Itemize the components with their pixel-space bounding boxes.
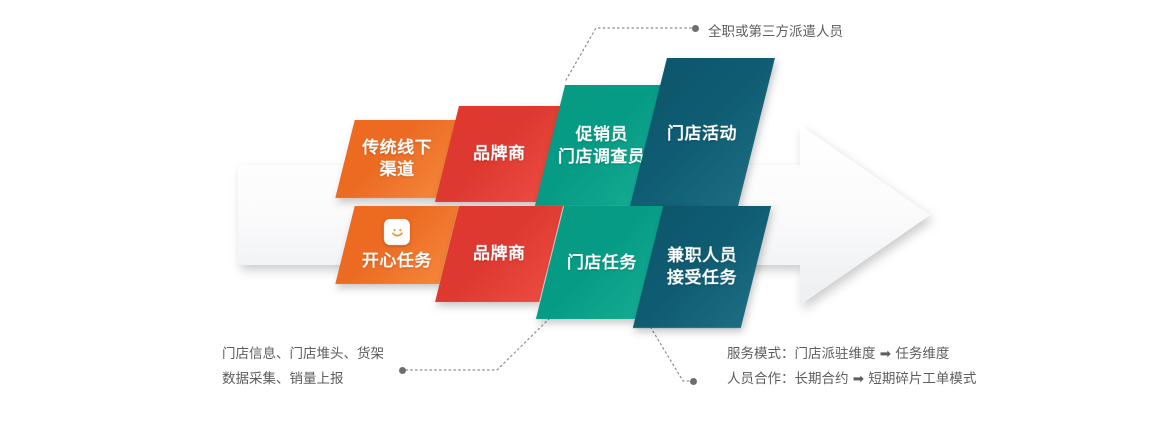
annotation-service-model: 服务模式：门店派驻维度 ➡ 任务维度 人员合作：长期合约 ➡ 短期碎片工单模式 [727,342,976,392]
block-label: 传统线下 渠道 [362,137,432,181]
annotation-dot-top-right [692,25,699,32]
annotation-dot-bottom-left [399,367,406,374]
block-label-with-icon: 开心任务 [362,219,432,272]
block-label: 品牌商 [473,243,526,265]
annotation-dot-bottom-right [690,378,697,385]
block-label: 促销员 门店调查员 [558,124,646,168]
smiley-app-icon [384,219,410,245]
annotation-staffing: 全职或第三方派遣人员 [708,20,843,45]
block-label: 门店任务 [567,252,637,274]
annotation-line: 全职或第三方派遣人员 [708,20,843,45]
annotation-data-collection: 门店信息、门店堆头、货架 数据采集、销量上报 [222,342,384,392]
annotation-line: 数据采集、销量上报 [222,367,384,392]
block-happy-task[interactable]: 开心任务 [335,206,458,284]
block-label: 品牌商 [473,143,526,165]
diagram-canvas: 传统线下 渠道 品牌商 促销员 门店调查员 门店活动 开心任务 品牌商 门店任务… [0,0,1150,430]
block-label: 门店活动 [667,123,737,145]
annotation-line: 门店信息、门店堆头、货架 [222,342,384,367]
connector-bottom-left [402,315,553,370]
annotation-line: 人员合作：长期合约 ➡ 短期碎片工单模式 [727,367,976,392]
connector-bottom-right [648,323,693,381]
annotation-line: 服务模式：门店派驻维度 ➡ 任务维度 [727,342,976,367]
block-label: 兼职人员 接受任务 [667,245,737,289]
block-label: 开心任务 [362,250,432,272]
